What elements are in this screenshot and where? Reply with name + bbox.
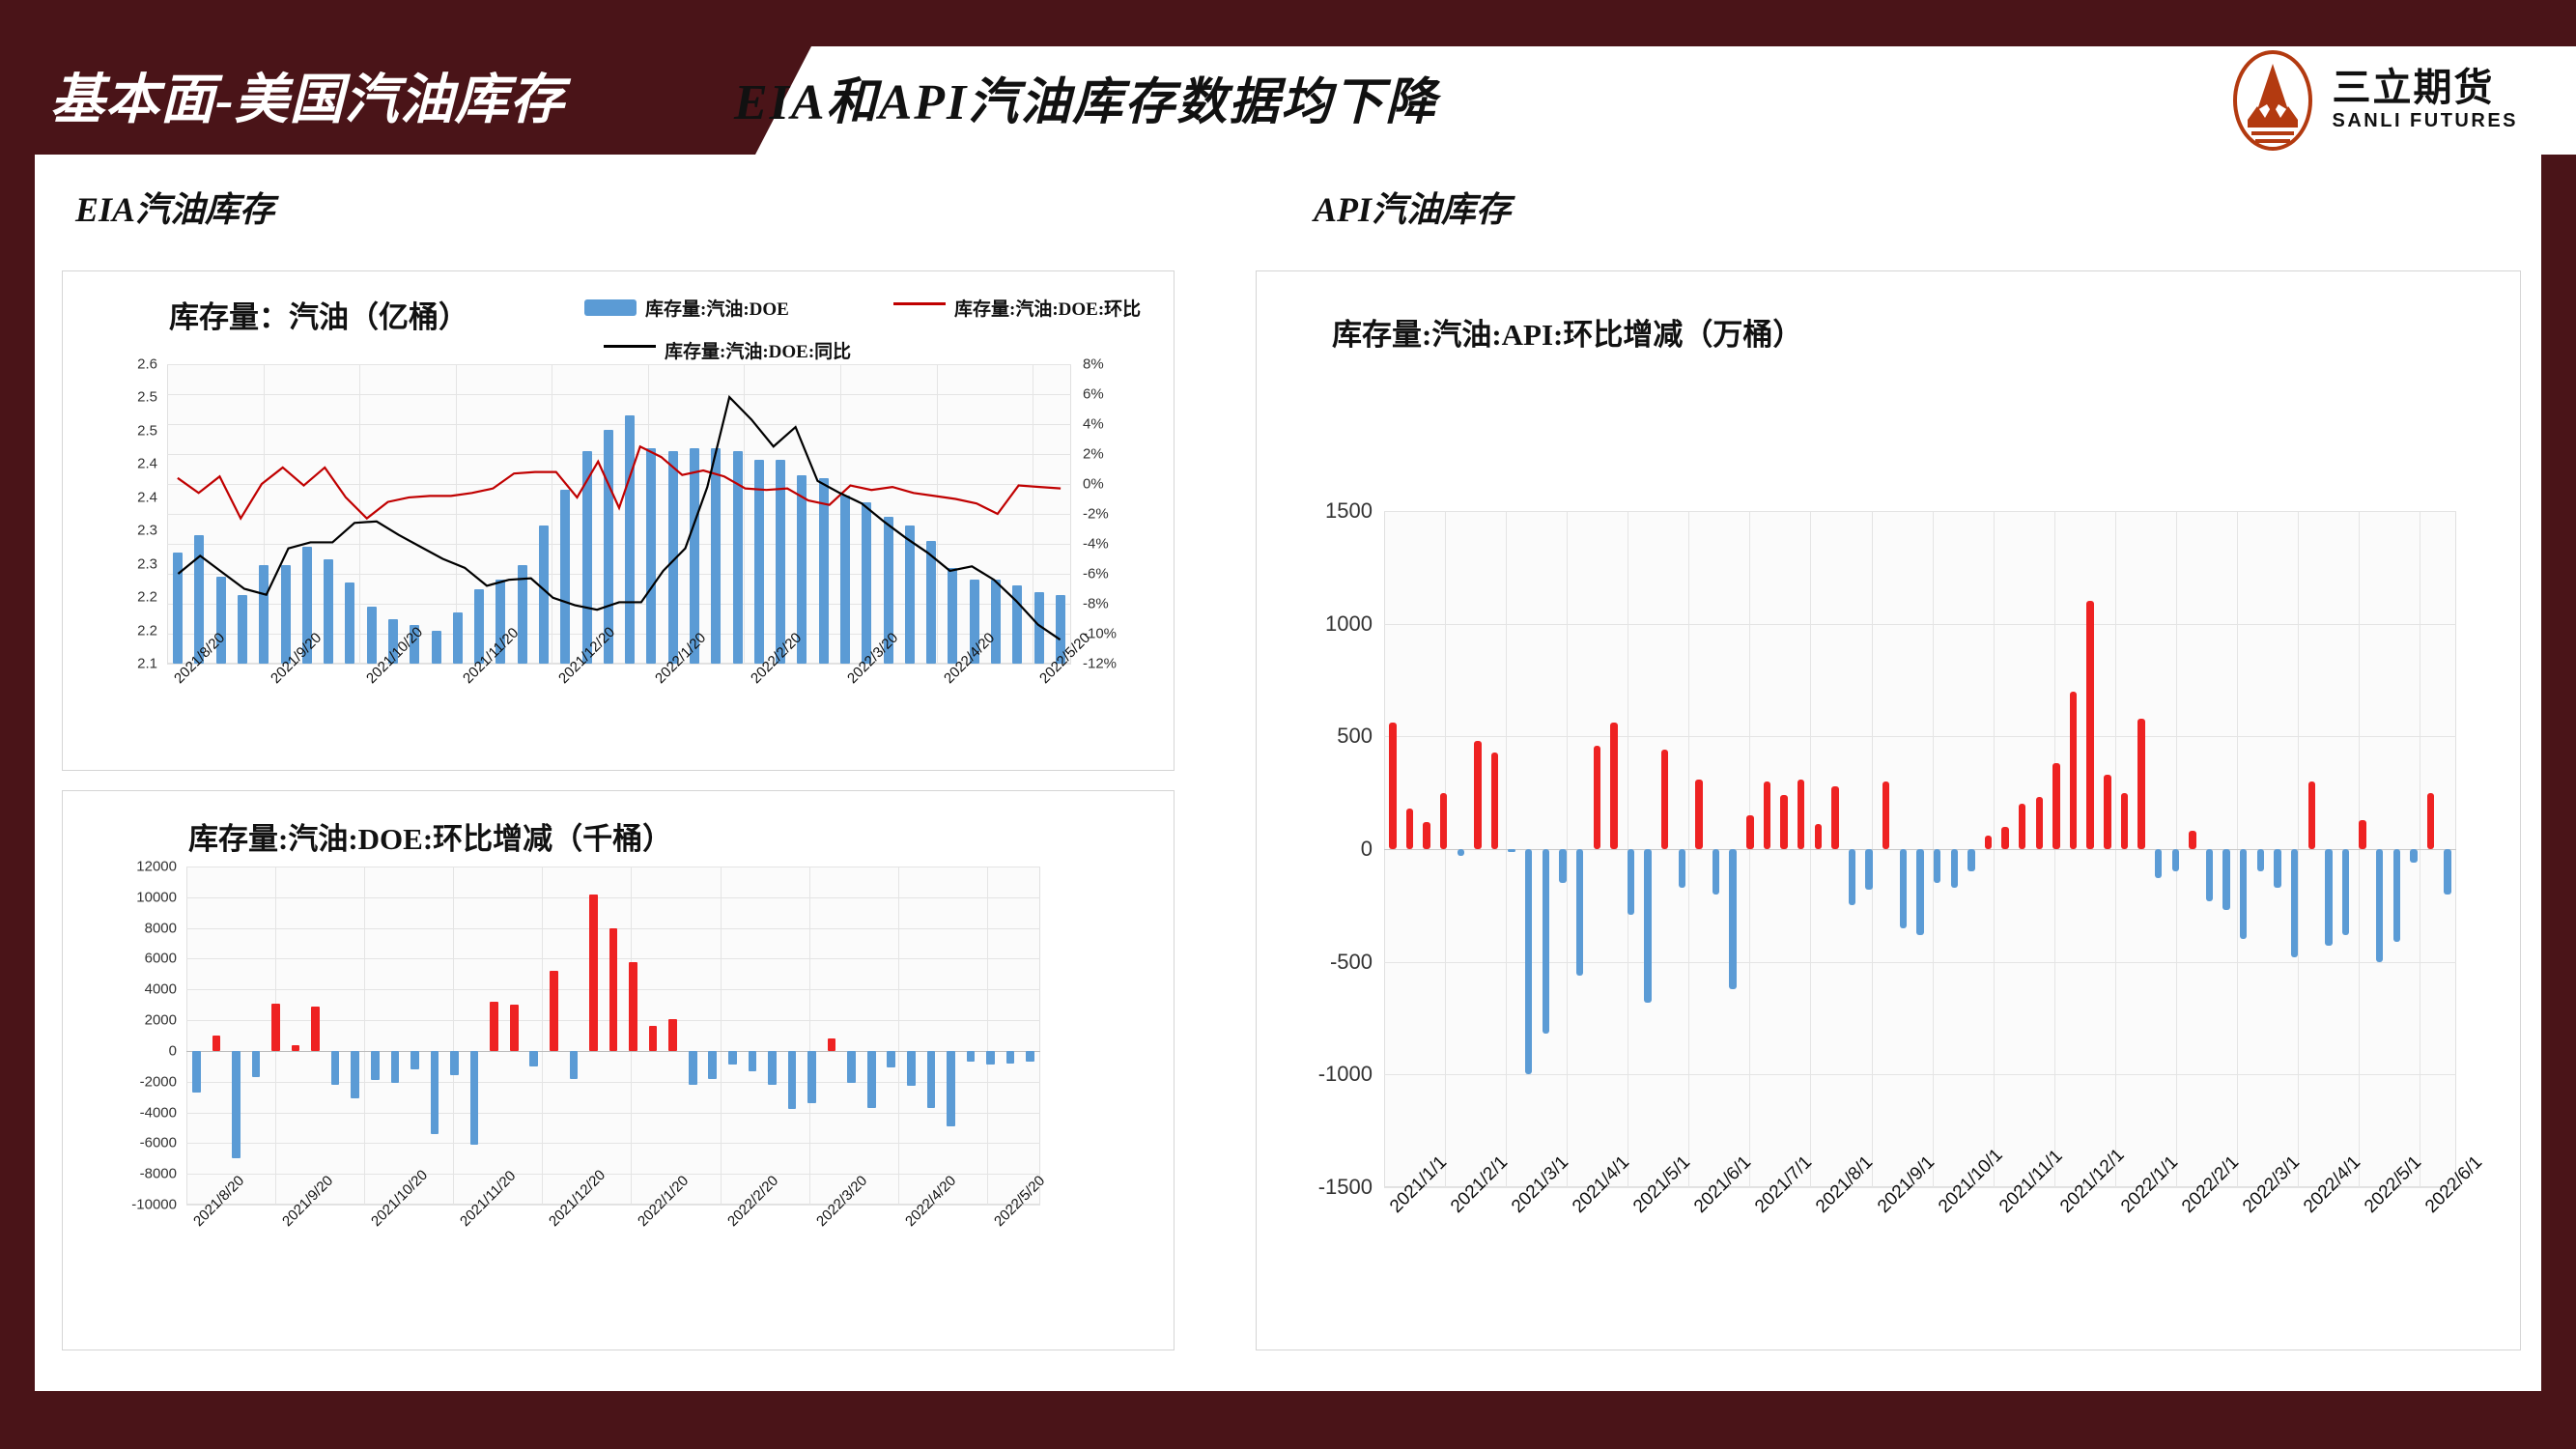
bar bbox=[589, 895, 598, 1051]
bar bbox=[582, 451, 592, 664]
bar bbox=[2019, 804, 2025, 849]
bar bbox=[1746, 815, 1753, 849]
bar bbox=[2308, 781, 2315, 849]
frame-bottom bbox=[0, 1391, 2576, 1449]
gridline bbox=[1384, 511, 2456, 512]
bar bbox=[311, 1007, 320, 1051]
bar bbox=[2070, 692, 2077, 849]
y-axis-tick: -500 bbox=[1280, 950, 1373, 975]
legend-label-yoy: 库存量:汽油:DOE:同比 bbox=[665, 342, 851, 362]
bar bbox=[2240, 849, 2247, 939]
bar bbox=[431, 1051, 439, 1134]
bar bbox=[828, 1038, 836, 1051]
bar bbox=[862, 502, 871, 664]
bar bbox=[1034, 592, 1044, 664]
y-axis-tick: 8000 bbox=[88, 920, 177, 936]
bar bbox=[2189, 831, 2195, 849]
y-axis-tick: -10000 bbox=[88, 1197, 177, 1213]
chart-title-api: 库存量:汽油:API:环比增减（万桶） bbox=[1332, 310, 1802, 354]
y-axis-tick-right: 4% bbox=[1083, 416, 1160, 433]
frame-left bbox=[0, 0, 35, 1449]
y-axis-tick: 10000 bbox=[88, 889, 177, 905]
bar bbox=[728, 1051, 737, 1065]
y-axis-tick-right: 8% bbox=[1083, 356, 1160, 373]
bar bbox=[711, 448, 721, 664]
bar bbox=[391, 1051, 400, 1083]
bar bbox=[351, 1051, 359, 1098]
bar bbox=[2376, 849, 2383, 962]
bar bbox=[539, 526, 549, 664]
bar bbox=[887, 1051, 895, 1068]
y-axis-tick: 6000 bbox=[88, 951, 177, 967]
bar bbox=[2036, 797, 2043, 849]
bar bbox=[367, 607, 377, 664]
y-axis-tick: 1000 bbox=[1280, 611, 1373, 637]
frame-right bbox=[2541, 0, 2576, 1449]
bar bbox=[807, 1051, 816, 1103]
bar bbox=[450, 1051, 459, 1075]
bar bbox=[2274, 849, 2280, 888]
y-axis-tick-left: 2.6 bbox=[96, 356, 157, 373]
bar bbox=[1458, 849, 1464, 856]
y-axis-tick-right: -4% bbox=[1083, 536, 1160, 553]
bar bbox=[1644, 849, 1651, 1003]
section-heading-api: API汽油库存 bbox=[1314, 182, 1511, 232]
y-axis-tick-left: 2.3 bbox=[96, 523, 157, 539]
chart-title-eia-stock: 库存量：汽油（亿桶） bbox=[169, 293, 468, 336]
bar bbox=[470, 1051, 479, 1145]
gridline-vertical bbox=[937, 364, 938, 664]
gridline-vertical bbox=[552, 364, 552, 664]
bar bbox=[1508, 849, 1514, 852]
bar bbox=[668, 1019, 677, 1051]
y-axis-tick-left: 2.4 bbox=[96, 489, 157, 505]
bar bbox=[609, 928, 618, 1051]
y-axis-tick-left: 2.2 bbox=[96, 622, 157, 639]
bar bbox=[1491, 753, 1498, 849]
gridline-vertical bbox=[359, 364, 360, 664]
y-axis-tick: 4000 bbox=[88, 981, 177, 998]
bar bbox=[1916, 849, 1923, 935]
gridline bbox=[1384, 736, 2456, 737]
bar bbox=[1576, 849, 1583, 976]
bar bbox=[1026, 1051, 1034, 1062]
bar bbox=[2052, 763, 2059, 849]
y-axis-tick-right: -10% bbox=[1083, 626, 1160, 642]
gridline bbox=[167, 394, 1071, 395]
legend-label-doe: 库存量:汽油:DOE bbox=[645, 299, 789, 320]
bar bbox=[2393, 849, 2400, 942]
bar bbox=[689, 1051, 697, 1085]
bar bbox=[2222, 849, 2229, 910]
y-axis-tick-right: -6% bbox=[1083, 566, 1160, 582]
bar bbox=[252, 1051, 261, 1077]
bar bbox=[1628, 849, 1634, 915]
bar bbox=[1831, 786, 1838, 849]
y-axis-tick-left: 2.2 bbox=[96, 589, 157, 606]
bar bbox=[192, 1051, 201, 1093]
legend-item-doe-bar: 库存量:汽油:DOE bbox=[584, 295, 789, 321]
bar bbox=[1474, 741, 1481, 849]
bar bbox=[2257, 849, 2264, 871]
bar bbox=[1849, 849, 1855, 905]
gridline bbox=[1384, 1074, 2456, 1075]
bar bbox=[1764, 781, 1770, 849]
slide: 基本面-美国汽油库存 EIA和API汽油库存数据均下降 三立期货 SANLI F… bbox=[0, 0, 2576, 1449]
bar bbox=[629, 962, 637, 1051]
bar bbox=[2342, 849, 2349, 935]
gridline bbox=[186, 1113, 1040, 1114]
bar bbox=[2137, 719, 2144, 849]
bar bbox=[927, 1051, 936, 1108]
bar bbox=[847, 1051, 856, 1083]
bar bbox=[2086, 601, 2093, 849]
gridline bbox=[1384, 624, 2456, 625]
bar bbox=[560, 490, 570, 664]
bar bbox=[947, 1051, 955, 1126]
bar bbox=[749, 1051, 757, 1071]
bar bbox=[2121, 793, 2128, 849]
bar bbox=[926, 541, 936, 664]
gridline bbox=[167, 664, 1071, 665]
gridline bbox=[186, 897, 1040, 898]
bar bbox=[625, 415, 635, 664]
y-axis-tick: 12000 bbox=[88, 859, 177, 875]
bar bbox=[708, 1051, 717, 1079]
bar bbox=[668, 451, 678, 664]
bar bbox=[646, 448, 656, 664]
chart-panel-api: 库存量:汽油:API:环比增减（万桶） 150010005000-500-100… bbox=[1256, 270, 2521, 1350]
y-axis-tick: 0 bbox=[1280, 837, 1373, 862]
gridline bbox=[167, 454, 1071, 455]
bar bbox=[173, 553, 183, 664]
bar bbox=[1865, 849, 1872, 890]
bar bbox=[1900, 849, 1907, 928]
bar bbox=[550, 971, 558, 1051]
bar bbox=[2410, 849, 2417, 863]
bar bbox=[2155, 849, 2162, 878]
bar bbox=[2325, 849, 2332, 946]
gridline-vertical bbox=[987, 867, 988, 1205]
gridline-vertical bbox=[721, 867, 722, 1205]
bar bbox=[2444, 849, 2450, 895]
bar bbox=[1713, 849, 1719, 895]
gridline bbox=[167, 424, 1071, 425]
page-title: EIA和API汽油库存数据均下降 bbox=[734, 50, 1437, 156]
gridline bbox=[167, 364, 1071, 365]
bar bbox=[518, 565, 527, 664]
bar bbox=[1389, 723, 1396, 849]
bar bbox=[776, 460, 785, 664]
bar bbox=[768, 1051, 777, 1085]
y-axis-tick: 0 bbox=[88, 1042, 177, 1059]
bar bbox=[331, 1051, 340, 1085]
y-axis-tick-right: -8% bbox=[1083, 596, 1160, 612]
bar bbox=[238, 595, 247, 664]
bar bbox=[1440, 793, 1447, 849]
y-axis-tick: 2000 bbox=[88, 1012, 177, 1029]
bar bbox=[819, 478, 829, 664]
bar bbox=[510, 1005, 519, 1051]
bar bbox=[1594, 746, 1600, 849]
y-axis-tick: -8000 bbox=[88, 1166, 177, 1182]
bar bbox=[733, 451, 743, 664]
bar bbox=[1543, 849, 1549, 1034]
y-axis-tick-left: 2.3 bbox=[96, 555, 157, 572]
bar bbox=[570, 1051, 579, 1079]
bar bbox=[281, 565, 291, 664]
legend-swatch-bar-icon bbox=[584, 299, 637, 316]
bar bbox=[2359, 820, 2365, 849]
gridline-vertical bbox=[898, 867, 899, 1205]
bar bbox=[649, 1026, 658, 1050]
bar bbox=[754, 460, 764, 664]
legend-item-doe-mom: 库存量:汽油:DOE:环比 bbox=[893, 295, 1141, 321]
y-axis-tick: -1000 bbox=[1280, 1062, 1373, 1087]
bar bbox=[1934, 849, 1940, 883]
bar bbox=[1610, 723, 1617, 849]
plot-area-api bbox=[1384, 511, 2456, 1187]
y-axis-tick-right: 2% bbox=[1083, 446, 1160, 463]
bar bbox=[271, 1004, 280, 1051]
bar bbox=[453, 612, 463, 664]
gridline-vertical bbox=[744, 364, 745, 664]
gridline-vertical bbox=[1033, 364, 1033, 664]
line-mom bbox=[178, 446, 1061, 518]
mountain-logo-icon bbox=[2228, 50, 2317, 151]
bar bbox=[1661, 750, 1668, 849]
y-axis-tick: -2000 bbox=[88, 1073, 177, 1090]
bar bbox=[232, 1051, 241, 1158]
section-heading-eia: EIA汽油库存 bbox=[75, 182, 274, 232]
bar bbox=[1798, 780, 1804, 849]
bar bbox=[212, 1036, 221, 1051]
gridline bbox=[186, 867, 1040, 867]
bar bbox=[2427, 793, 2434, 849]
bar bbox=[2206, 849, 2213, 901]
y-axis-tick: 500 bbox=[1280, 724, 1373, 749]
bar bbox=[905, 526, 915, 664]
bar bbox=[1012, 585, 1022, 664]
bar bbox=[967, 1051, 976, 1062]
gridline-vertical bbox=[453, 867, 454, 1205]
gridline-vertical bbox=[809, 867, 810, 1205]
gridline-vertical bbox=[542, 867, 543, 1205]
bar bbox=[2291, 849, 2298, 957]
y-axis-tick: -1500 bbox=[1280, 1175, 1373, 1200]
legend-item-doe-yoy: 库存量:汽油:DOE:同比 bbox=[604, 337, 851, 363]
y-axis-tick: -4000 bbox=[88, 1104, 177, 1121]
chart-panel-eia-stock: 库存量：汽油（亿桶） 库存量:汽油:DOE 库存量:汽油:DOE:环比 库存量:… bbox=[62, 270, 1175, 771]
bar bbox=[1815, 824, 1822, 849]
bar bbox=[1559, 849, 1566, 883]
bar bbox=[371, 1051, 380, 1080]
bar bbox=[259, 565, 269, 664]
y-axis-tick-left: 2.5 bbox=[96, 422, 157, 439]
y-axis-tick-left: 2.4 bbox=[96, 456, 157, 472]
bar bbox=[1729, 849, 1736, 989]
bar bbox=[948, 568, 957, 664]
bar bbox=[292, 1045, 300, 1051]
bar bbox=[788, 1051, 797, 1109]
bar bbox=[1525, 849, 1532, 1074]
logo-name-en: SANLI FUTURES bbox=[2333, 108, 2519, 133]
bar bbox=[529, 1051, 538, 1066]
bar bbox=[907, 1051, 916, 1087]
bar bbox=[840, 496, 850, 664]
bar bbox=[410, 1051, 419, 1069]
legend-label-mom: 库存量:汽油:DOE:环比 bbox=[954, 299, 1141, 320]
bar bbox=[432, 631, 441, 664]
bar bbox=[991, 580, 1001, 664]
plot-area-eia-stock bbox=[167, 364, 1071, 664]
plot-area-eia-wow bbox=[186, 867, 1040, 1205]
y-axis-tick: -6000 bbox=[88, 1135, 177, 1151]
bar bbox=[1679, 849, 1685, 888]
bar bbox=[345, 582, 354, 664]
bar bbox=[2001, 827, 2008, 849]
bar bbox=[490, 1002, 498, 1051]
chart-title-eia-wow: 库存量:汽油:DOE:环比增减（千桶） bbox=[188, 814, 672, 858]
bar bbox=[1985, 836, 1992, 849]
y-axis-tick-right: 0% bbox=[1083, 476, 1160, 493]
y-axis-tick-right: -2% bbox=[1083, 506, 1160, 523]
gridline bbox=[186, 1143, 1040, 1144]
gridline-vertical bbox=[364, 867, 365, 1205]
bar bbox=[986, 1051, 995, 1065]
bar bbox=[1780, 795, 1787, 849]
legend-swatch-line-black-icon bbox=[604, 345, 656, 348]
gridline bbox=[186, 1174, 1040, 1175]
y-axis-tick-right: 6% bbox=[1083, 386, 1160, 403]
bar bbox=[2104, 775, 2110, 849]
brand-logo: 三立期货 SANLI FUTURES bbox=[2228, 46, 2519, 155]
bar bbox=[867, 1051, 876, 1108]
bar bbox=[1882, 781, 1889, 849]
gridline bbox=[167, 484, 1071, 485]
bar bbox=[1951, 849, 1958, 888]
logo-name-cn: 三立期货 bbox=[2333, 68, 2519, 108]
bar bbox=[324, 559, 333, 665]
y-axis-tick-left: 2.5 bbox=[96, 389, 157, 406]
bar bbox=[2172, 849, 2179, 871]
bar bbox=[1423, 822, 1430, 849]
gridline bbox=[167, 514, 1071, 515]
chart-panel-eia-wow: 库存量:汽油:DOE:环比增减（千桶） 12000100008000600040… bbox=[62, 790, 1175, 1350]
legend-swatch-line-red-icon bbox=[893, 302, 946, 305]
bar bbox=[1967, 849, 1974, 871]
y-axis-tick: 1500 bbox=[1280, 498, 1373, 524]
y-axis-tick-left: 2.1 bbox=[96, 656, 157, 672]
category-tag: 基本面-美国汽油库存 bbox=[50, 50, 649, 151]
logo-text-block: 三立期货 SANLI FUTURES bbox=[2333, 68, 2519, 133]
bar bbox=[1006, 1051, 1015, 1064]
bar bbox=[1406, 809, 1413, 849]
bar bbox=[1695, 780, 1702, 849]
y-axis-tick-right: -12% bbox=[1083, 656, 1160, 672]
